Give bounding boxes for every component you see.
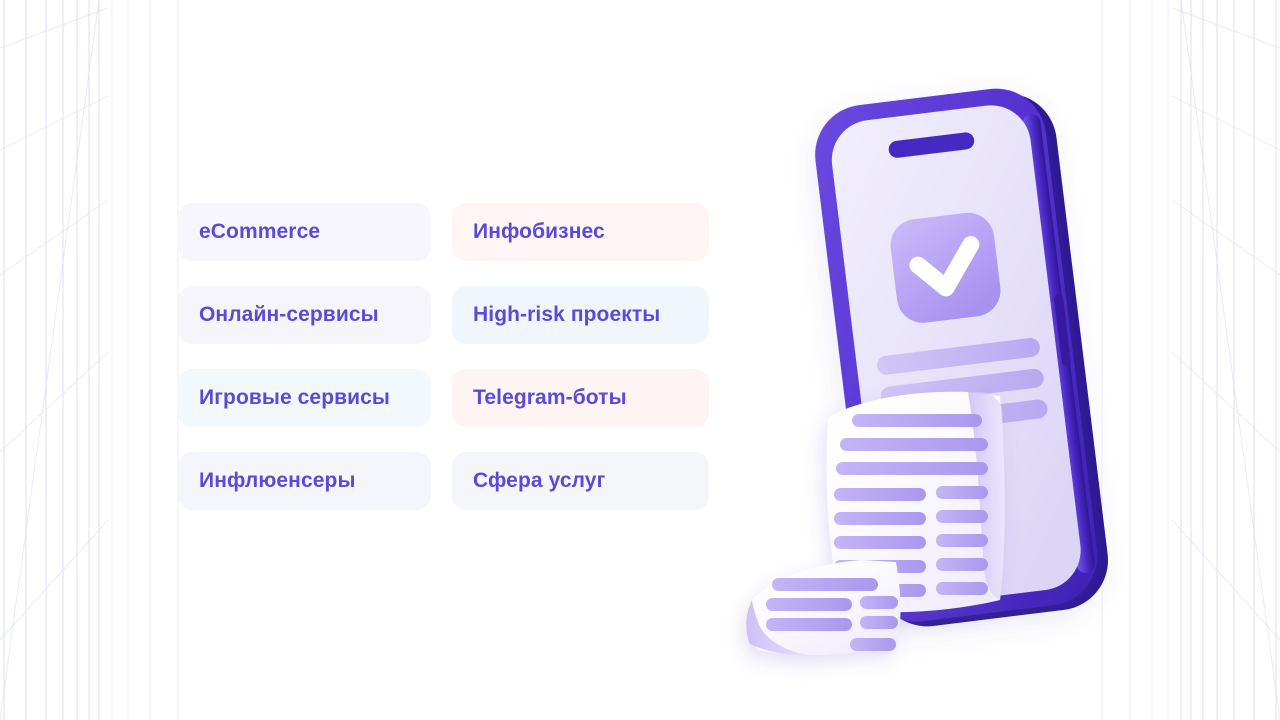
receipt-line	[860, 596, 898, 609]
receipt-line	[766, 598, 852, 611]
niche-chip-infobusiness[interactable]: Инфобизнес	[452, 203, 709, 261]
niche-chip-label: Онлайн-сервисы	[199, 303, 379, 327]
receipt-line	[936, 510, 988, 523]
receipt-line	[936, 582, 988, 595]
niche-chip-label: eCommerce	[199, 220, 320, 244]
niche-chip-label: Инфлюенсеры	[199, 469, 356, 493]
receipt-line	[834, 488, 926, 501]
niche-chip-label: Сфера услуг	[473, 469, 605, 493]
receipt-line	[766, 618, 852, 631]
niche-chip-telegram-bots[interactable]: Telegram-боты	[452, 369, 709, 427]
niche-chip-label: Инфобизнес	[473, 220, 605, 244]
receipt-line	[936, 558, 988, 571]
niche-chip-online-services[interactable]: Онлайн-сервисы	[178, 286, 431, 344]
receipt-line	[936, 534, 988, 547]
niche-chip-influencers[interactable]: Инфлюенсеры	[178, 452, 431, 510]
receipt-line	[852, 414, 982, 427]
phone-with-receipt-illustration	[700, 40, 1140, 700]
receipt-line	[836, 462, 988, 475]
niches-hero-section: eCommerce Инфобизнес Онлайн-сервисы High…	[0, 0, 1280, 720]
niche-chip-list: eCommerce Инфобизнес Онлайн-сервисы High…	[178, 203, 709, 510]
receipt-line	[860, 616, 898, 629]
niche-chip-label: Telegram-боты	[473, 386, 627, 410]
niche-chip-gaming-services[interactable]: Игровые сервисы	[178, 369, 431, 427]
receipt-line	[936, 486, 988, 499]
receipt-line	[840, 438, 988, 451]
check-badge-icon	[888, 210, 1004, 326]
niche-chip-high-risk-projects[interactable]: High-risk проекты	[452, 286, 709, 344]
receipt-line	[850, 638, 896, 651]
niche-chip-label: High-risk проекты	[473, 303, 660, 327]
niche-chip-label: Игровые сервисы	[199, 386, 390, 410]
niche-chip-services-sector[interactable]: Сфера услуг	[452, 452, 709, 510]
receipt-line	[834, 536, 926, 549]
receipt-line	[834, 512, 926, 525]
niche-chip-ecommerce[interactable]: eCommerce	[178, 203, 431, 261]
receipt-line	[772, 578, 878, 591]
